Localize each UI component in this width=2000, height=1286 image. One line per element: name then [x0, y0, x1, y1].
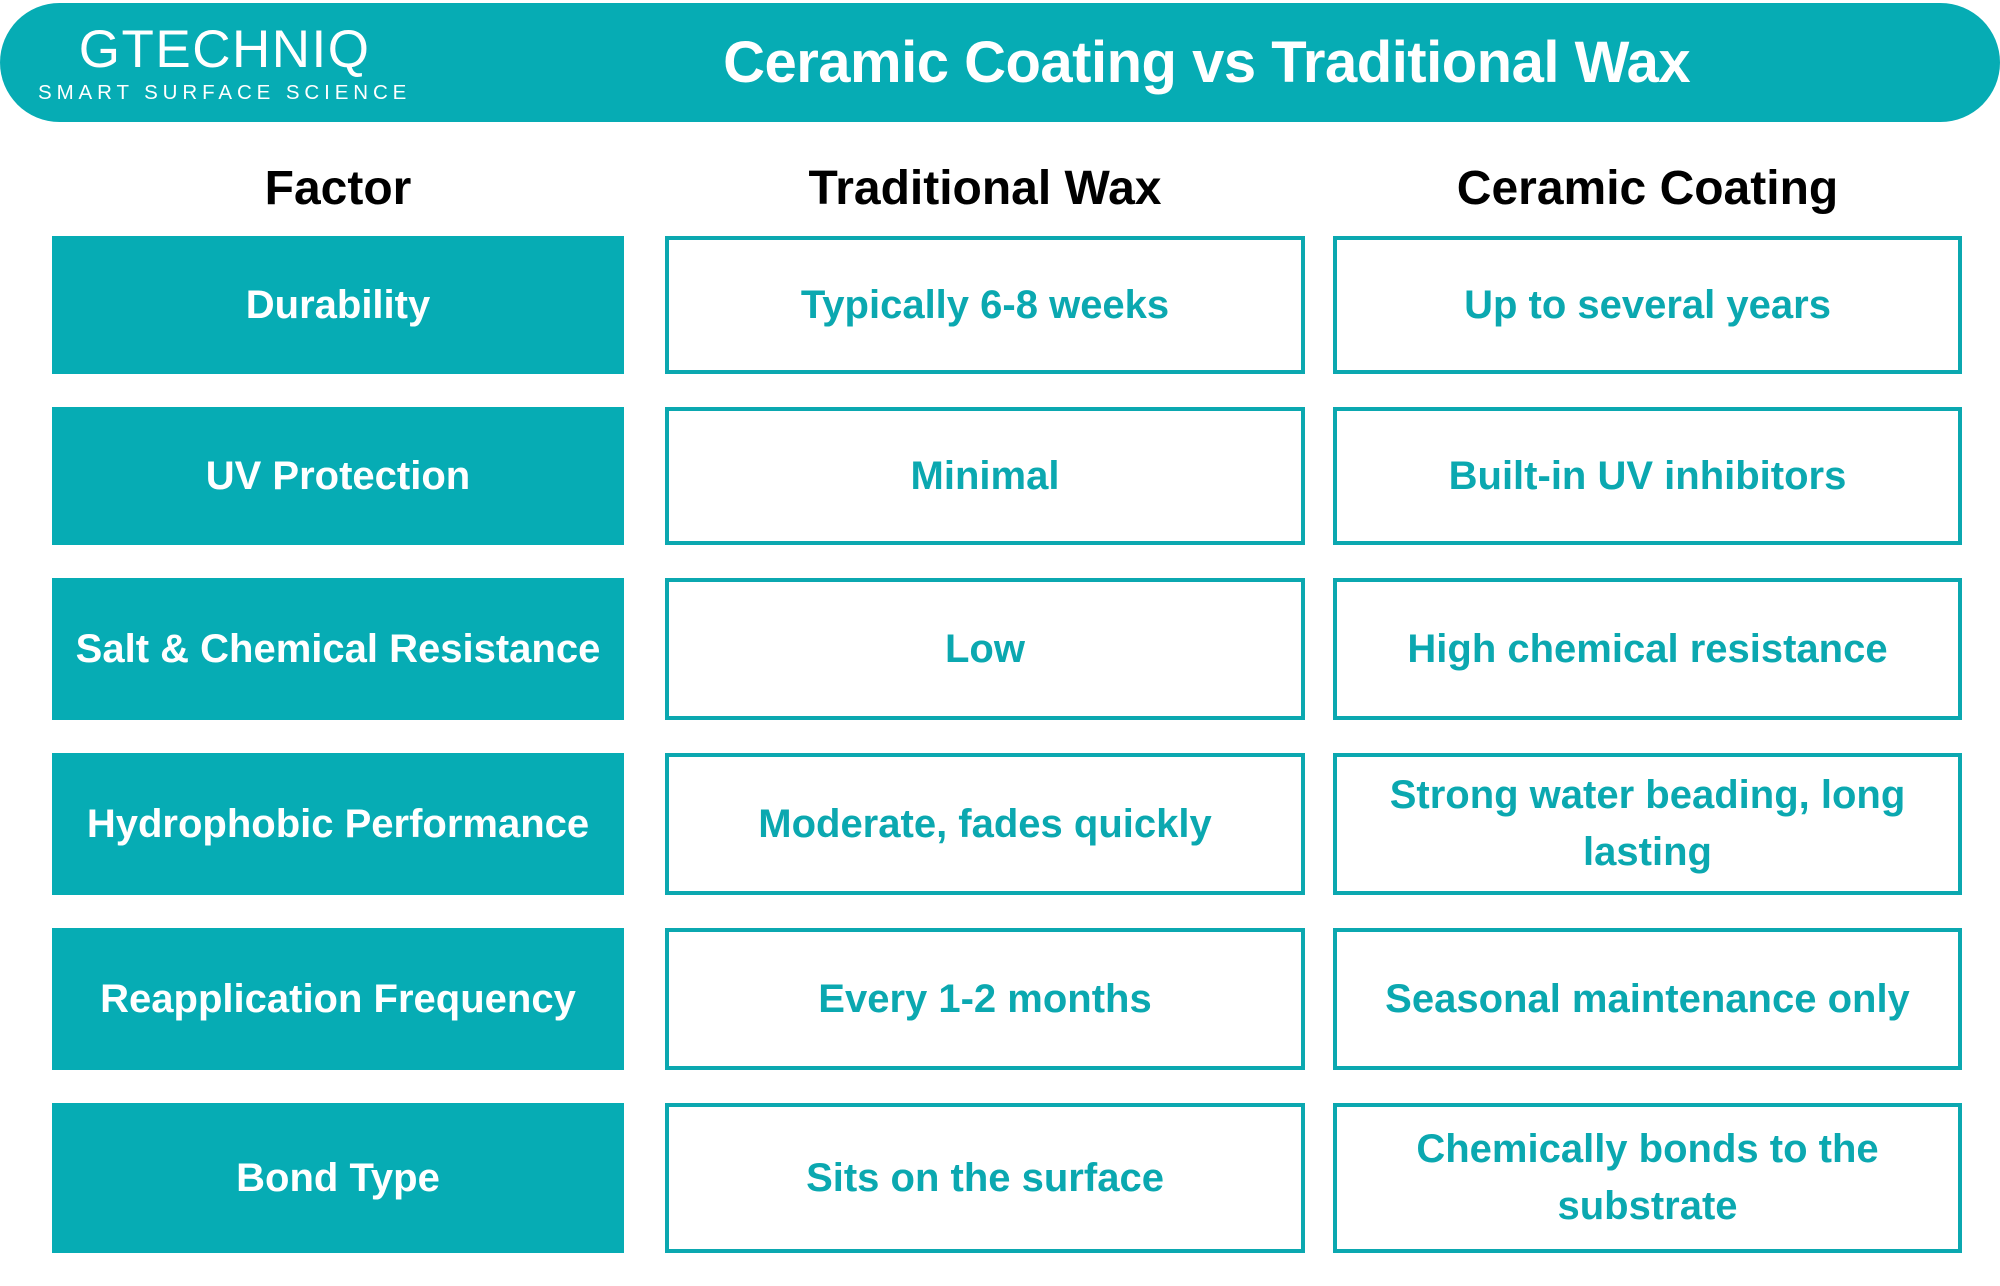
traditional-wax-cell: Sits on the surface — [665, 1103, 1305, 1253]
traditional-wax-cell: Every 1-2 months — [665, 928, 1305, 1070]
column-header-ceramic-coating: Ceramic Coating — [1333, 160, 1962, 218]
ceramic-coating-cell: Chemically bonds to the substrate — [1333, 1103, 1962, 1253]
column-header-traditional-wax: Traditional Wax — [665, 160, 1305, 218]
header-banner: GTECHNIQ SMART SURFACE SCIENCE Ceramic C… — [0, 3, 2000, 122]
ceramic-coating-cell: Up to several years — [1333, 236, 1962, 374]
traditional-wax-cell: Typically 6-8 weeks — [665, 236, 1305, 374]
page-title: Ceramic Coating vs Traditional Wax — [437, 29, 1976, 96]
comparison-table: Durability Typically 6-8 weeks Up to sev… — [0, 236, 2000, 1286]
factor-cell: UV Protection — [52, 407, 624, 545]
traditional-wax-cell: Low — [665, 578, 1305, 720]
table-row: Durability Typically 6-8 weeks Up to sev… — [0, 236, 2000, 374]
factor-cell: Salt & Chemical Resistance — [52, 578, 624, 720]
traditional-wax-cell: Minimal — [665, 407, 1305, 545]
table-row: UV Protection Minimal Built-in UV inhibi… — [0, 407, 2000, 545]
factor-cell: Durability — [52, 236, 624, 374]
table-row: Reapplication Frequency Every 1-2 months… — [0, 928, 2000, 1070]
ceramic-coating-cell: High chemical resistance — [1333, 578, 1962, 720]
table-row: Bond Type Sits on the surface Chemically… — [0, 1103, 2000, 1253]
logo-tagline: SMART SURFACE SCIENCE — [38, 83, 411, 104]
column-header-factor: Factor — [52, 160, 624, 218]
ceramic-coating-cell: Strong water beading, long lasting — [1333, 753, 1962, 895]
traditional-wax-cell: Moderate, fades quickly — [665, 753, 1305, 895]
table-row: Salt & Chemical Resistance Low High chem… — [0, 578, 2000, 720]
factor-cell: Reapplication Frequency — [52, 928, 624, 1070]
comparison-infographic: GTECHNIQ SMART SURFACE SCIENCE Ceramic C… — [0, 0, 2000, 1250]
factor-cell: Hydrophobic Performance — [52, 753, 624, 895]
ceramic-coating-cell: Seasonal maintenance only — [1333, 928, 1962, 1070]
table-row: Hydrophobic Performance Moderate, fades … — [0, 753, 2000, 895]
gtechniq-logo: GTECHNIQ SMART SURFACE SCIENCE — [38, 23, 411, 104]
column-headers: Factor Traditional Wax Ceramic Coating — [0, 160, 2000, 218]
factor-cell: Bond Type — [52, 1103, 624, 1253]
ceramic-coating-cell: Built-in UV inhibitors — [1333, 407, 1962, 545]
logo-wordmark: GTECHNIQ — [79, 23, 371, 76]
